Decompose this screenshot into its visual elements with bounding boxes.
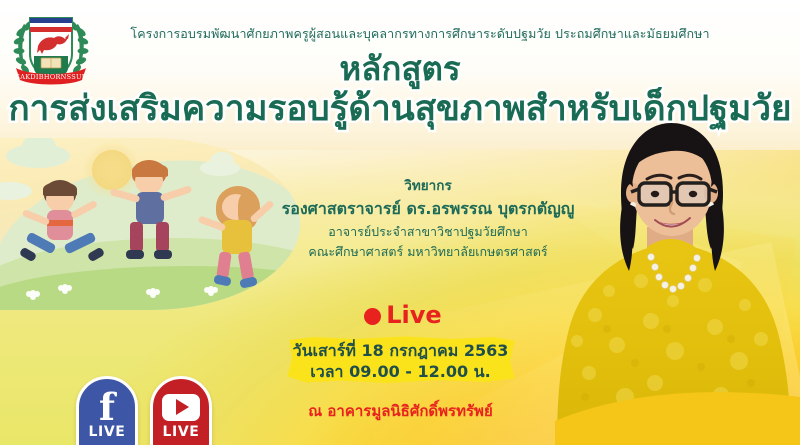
schedule-time: เวลา 09.00 - 12.00 น. [278,361,523,382]
venue-text: ณ อาคารมูลนิธิศักดิ์พรทรัพย์ [268,399,533,423]
flower-icon [62,284,68,290]
speaker-name: รองศาสตราจารย์ ดร.อรพรรณ บุตรกตัญญู [278,196,578,222]
child-figure [18,180,114,280]
youtube-live-label: LIVE [163,424,200,440]
live-label: Live [386,301,441,329]
facebook-live-label: LIVE [89,424,126,440]
facebook-icon: f [99,388,115,426]
speaker-role-label: วิทยากร [278,176,578,196]
youtube-live-badge[interactable]: LIVE [150,376,212,445]
speaker-portrait-illustration [555,115,800,445]
program-header-text: โครงการอบรมพัฒนาศักยภาพครูผู้สอนและบุคลา… [110,24,730,44]
live-badge: Live [278,303,528,327]
live-dot-icon [364,308,381,325]
children-illustration [0,138,300,310]
speaker-organization: คณะศึกษาศาสตร์ มหาวิทยาลัยเกษตรศาสตร์ [278,242,578,263]
facebook-live-badge[interactable]: f LIVE [76,376,138,445]
course-label: หลักสูตร [0,52,800,87]
flower-icon [150,288,156,294]
flower-icon [30,290,36,296]
speaker-position: อาจารย์ประจำสาขาวิชาปฐมวัยศึกษา [278,222,578,243]
cloud-icon [200,160,240,176]
child-figure [108,160,204,270]
speaker-photo [555,115,800,445]
social-badges: f LIVE LIVE [76,376,212,445]
seminar-poster: SAKDIBHORNSSUP โครงการอบรมพัฒนาศักยภาพคร… [0,0,800,445]
cloud-icon [6,144,70,168]
schedule-block: วันเสาร์ที่ 18 กรกฎาคม 2563 เวลา 09.00 -… [278,340,523,382]
schedule-date: วันเสาร์ที่ 18 กรกฎาคม 2563 [278,340,523,361]
youtube-play-icon [162,388,200,426]
speaker-info: วิทยากร รองศาสตราจารย์ ดร.อรพรรณ บุตรกตั… [278,176,578,263]
